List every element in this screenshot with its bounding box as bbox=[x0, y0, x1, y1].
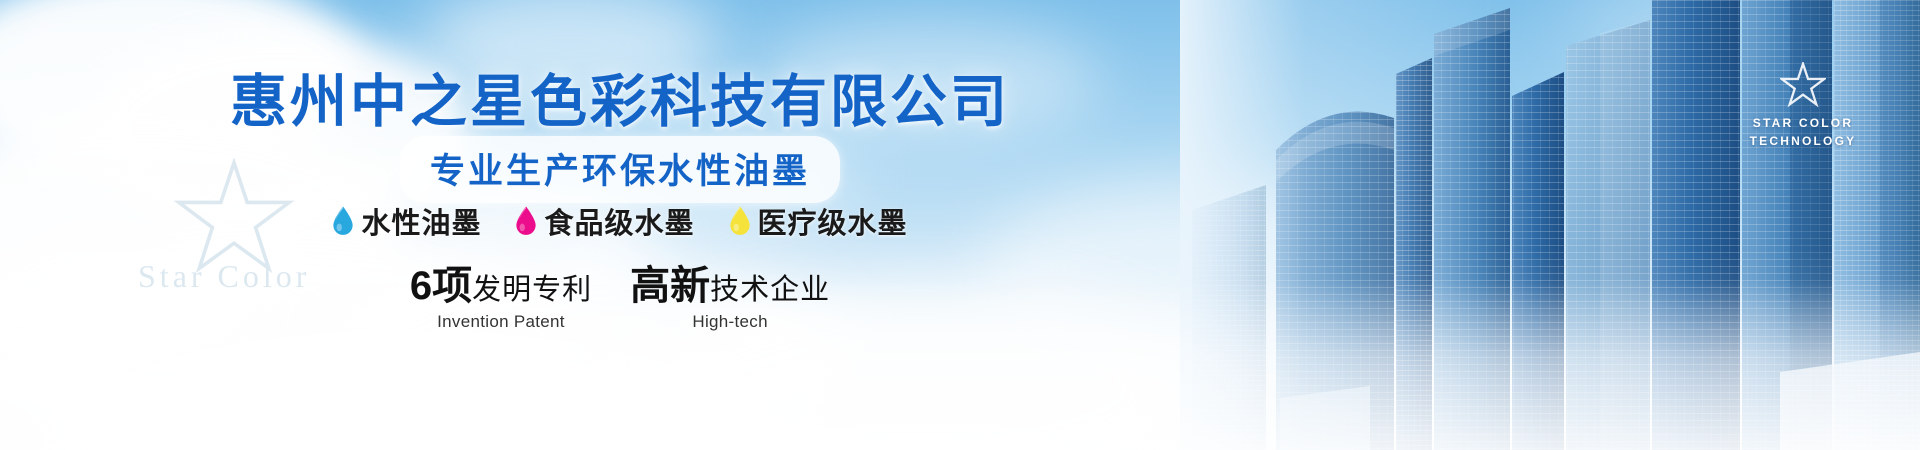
subtitle-pill: 专业生产环保水性油墨 bbox=[400, 136, 840, 203]
badge-english-text: High-tech bbox=[630, 312, 830, 332]
badge-chinese-text: 6项发明专利 bbox=[410, 265, 592, 307]
feature-label: 水性油墨 bbox=[361, 200, 481, 242]
water-drop-icon bbox=[332, 206, 354, 236]
badge-prefix: 6项 bbox=[410, 264, 472, 308]
badge-chinese-text: 高新技术企业 bbox=[630, 265, 830, 307]
feature-label: 医疗级水墨 bbox=[758, 200, 908, 242]
feature-item-food-grade-ink: 食品级水墨 bbox=[515, 200, 694, 242]
feature-item-medical-grade-ink: 医疗级水墨 bbox=[729, 200, 908, 242]
badge-suffix: 技术企业 bbox=[710, 274, 830, 306]
badge-suffix: 发明专利 bbox=[472, 274, 592, 306]
feature-list: 水性油墨 食品级水墨 医疗级水墨 bbox=[0, 200, 1240, 242]
subtitle-container: 专业生产环保水性油墨 bbox=[0, 136, 1240, 203]
promotional-banner: Star Color STAR COLOR TECHNOLOGY 惠州中之星色彩… bbox=[0, 0, 1920, 450]
badge-invention-patent: 6项发明专利 Invention Patent bbox=[410, 265, 592, 332]
badge-prefix: 高新 bbox=[630, 264, 710, 308]
water-drop-icon bbox=[515, 206, 537, 236]
buildings-illustration bbox=[1180, 0, 1920, 450]
banner-content: 惠州中之星色彩科技有限公司 专业生产环保水性油墨 水性油墨 食品级水墨 bbox=[0, 0, 1240, 450]
company-title: 惠州中之星色彩科技有限公司 bbox=[0, 56, 1240, 138]
badge-english-text: Invention Patent bbox=[410, 312, 592, 332]
city-buildings-photo bbox=[1180, 0, 1920, 450]
feature-label: 食品级水墨 bbox=[544, 200, 694, 242]
badge-high-tech: 高新技术企业 High-tech bbox=[630, 265, 830, 332]
feature-item-water-ink: 水性油墨 bbox=[332, 200, 481, 242]
water-drop-icon bbox=[729, 206, 751, 236]
badge-list: 6项发明专利 Invention Patent 高新技术企业 High-tech bbox=[0, 265, 1240, 332]
